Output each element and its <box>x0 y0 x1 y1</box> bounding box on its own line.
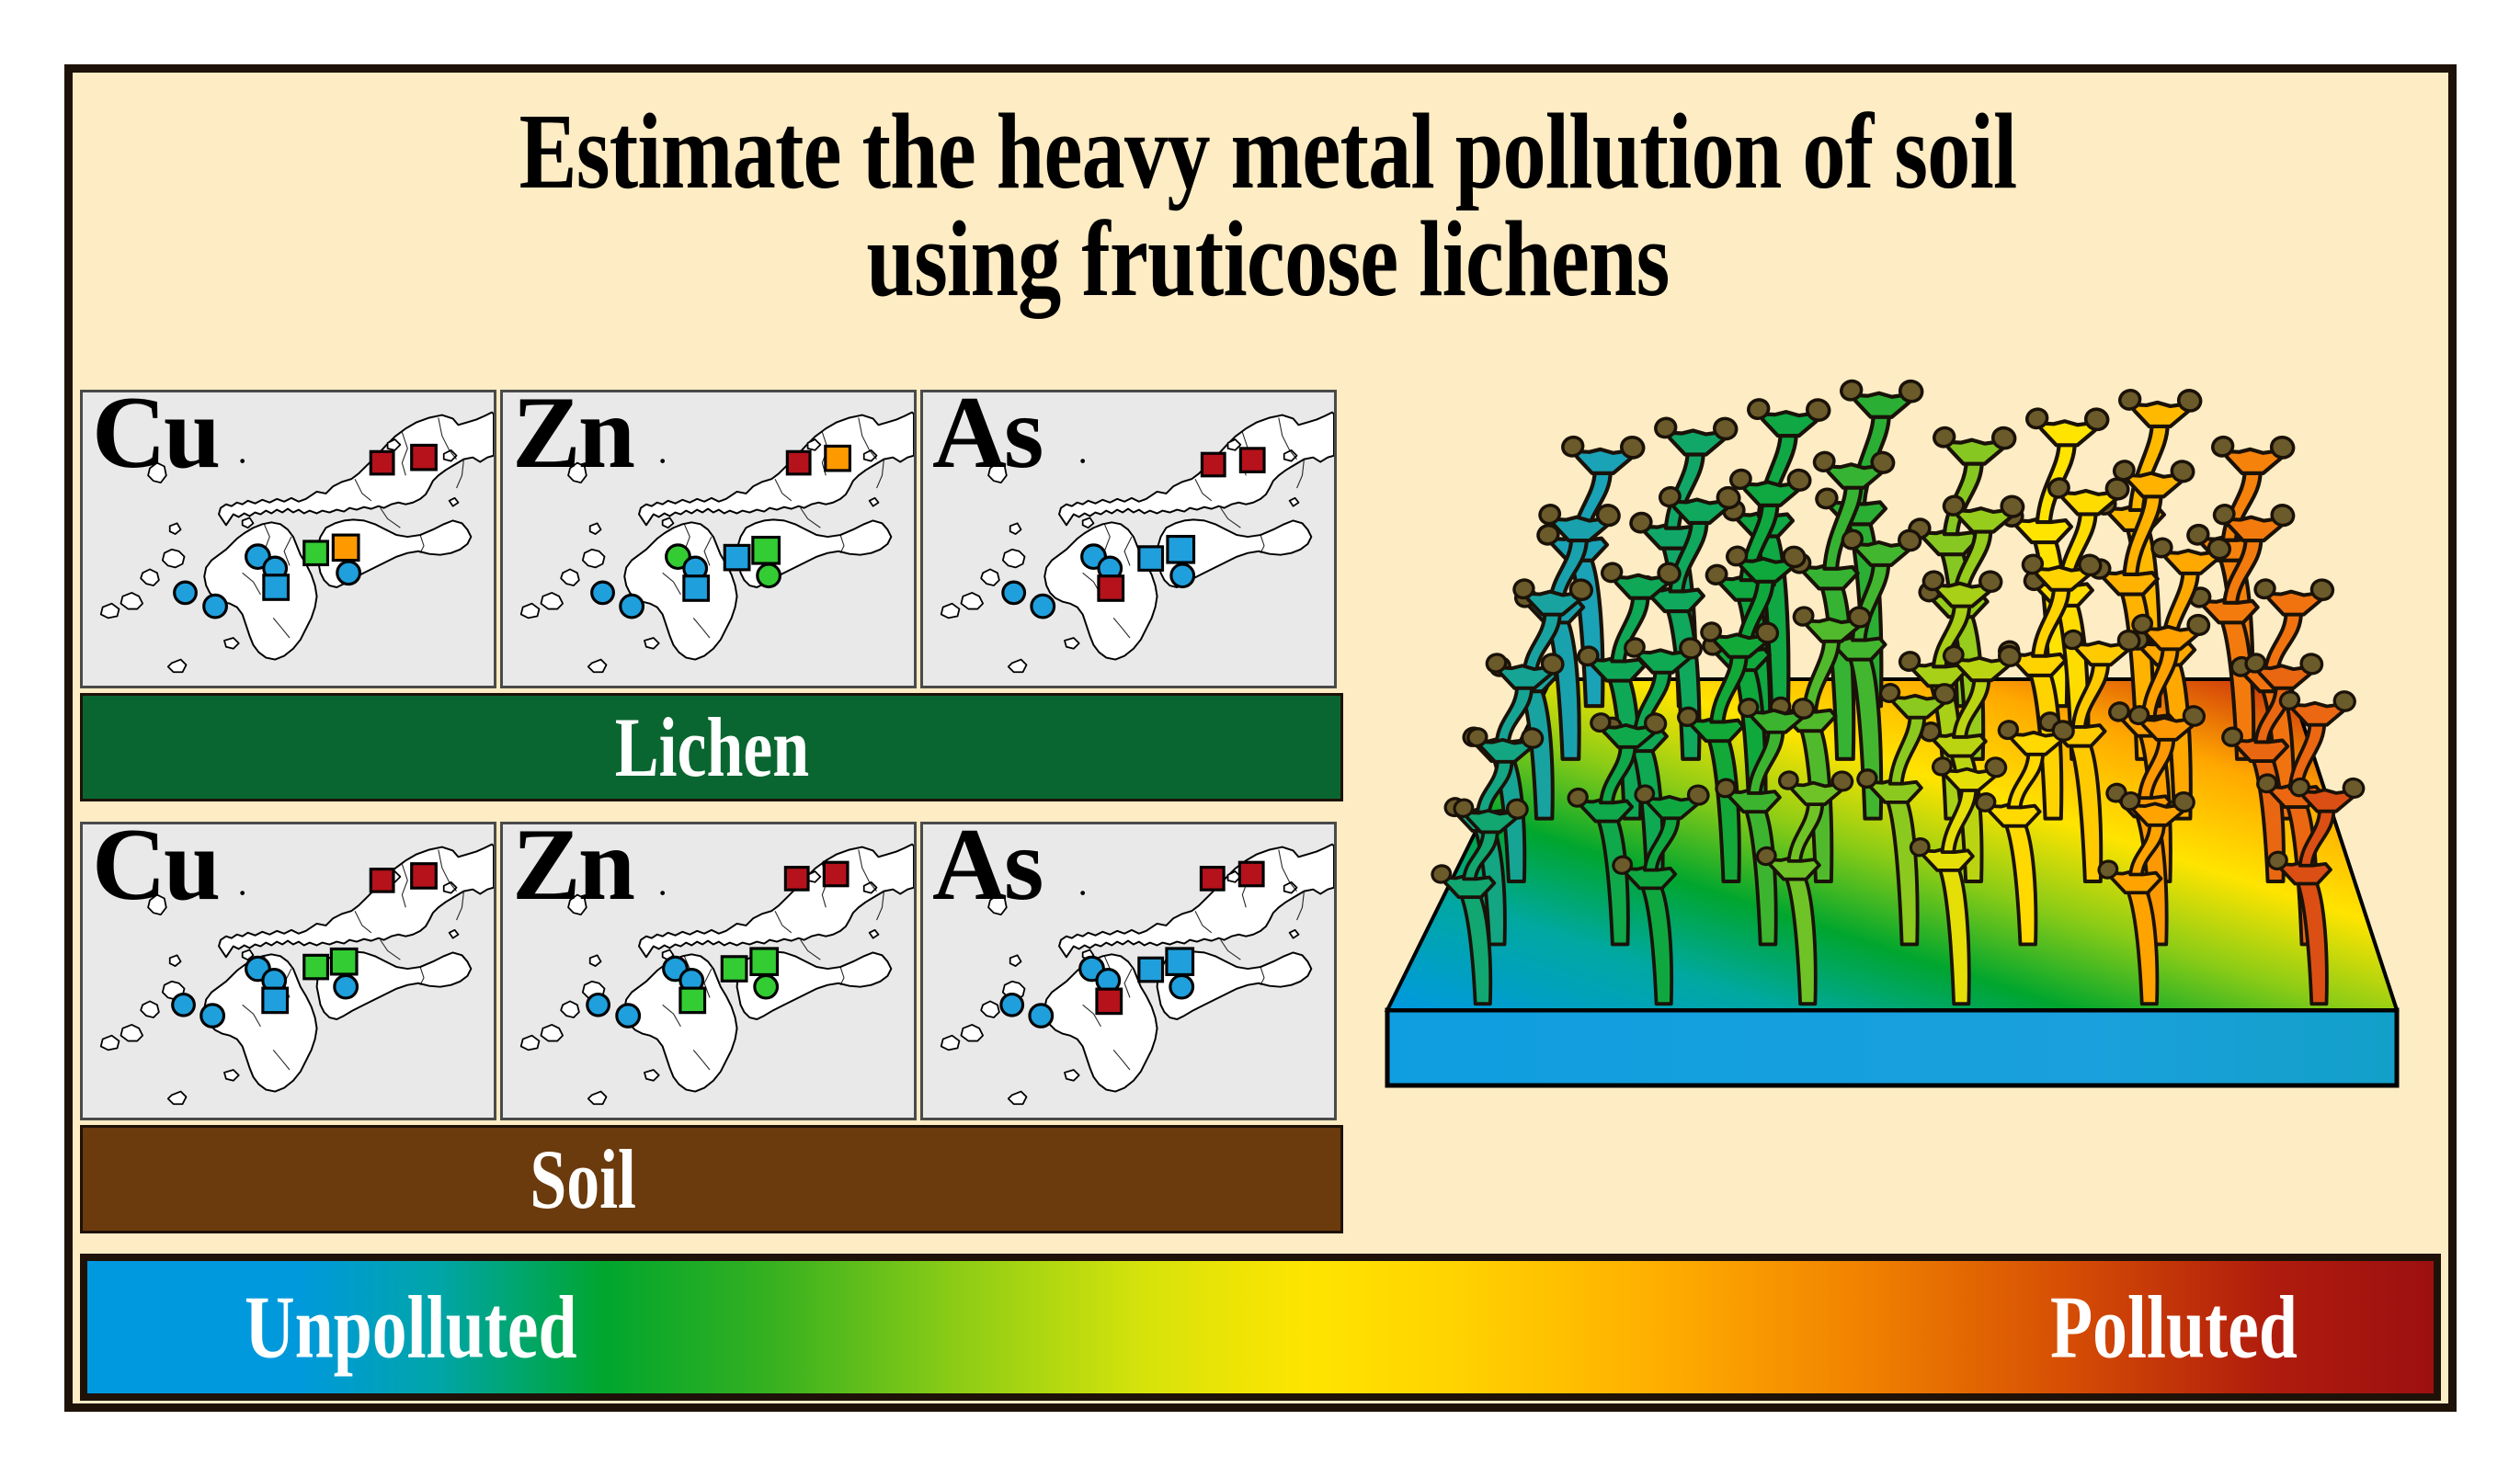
map-panel-lichen-zn[interactable]: Zn <box>500 390 917 688</box>
graphical-abstract: Estimate the heavy metal pollution of so… <box>0 0 2520 1477</box>
map-row-lichen: Cu Zn As <box>80 390 1349 688</box>
lichen-slab-illustration <box>1360 376 2445 1240</box>
banner-soil-label: Soil <box>530 1137 636 1221</box>
map-block: Cu Zn As Lichen <box>80 390 1349 1313</box>
map-panel-soil-zn[interactable]: Zn <box>500 822 917 1120</box>
element-label: As <box>932 822 1041 916</box>
lichen-slab-svg <box>1360 376 2445 1240</box>
colorbar-right-label: Polluted <box>2015 1283 2332 1372</box>
map-panel-lichen-cu[interactable]: Cu <box>80 390 496 688</box>
map-panel-soil-as[interactable]: As <box>920 822 1337 1120</box>
element-label: Zn <box>512 822 633 916</box>
banner-lichen: Lichen <box>80 693 1343 801</box>
banner-soil: Soil <box>80 1125 1343 1233</box>
element-label: As <box>932 390 1041 484</box>
element-label: Cu <box>92 390 218 484</box>
pollution-colorbar: Unpolluted Polluted <box>80 1254 2441 1401</box>
banner-lichen-label: Lichen <box>614 705 808 790</box>
slab-front-face <box>1387 1010 2397 1085</box>
element-label: Cu <box>92 822 218 916</box>
element-label: Zn <box>512 390 633 484</box>
colorbar-left-label: Unpolluted <box>198 1283 624 1372</box>
map-panel-lichen-as[interactable]: As <box>920 390 1337 688</box>
page-title: Estimate the heavy metal pollution of so… <box>400 98 2136 313</box>
title-line-1: Estimate the heavy metal pollution of so… <box>519 91 2017 211</box>
map-panel-soil-cu[interactable]: Cu <box>80 822 496 1120</box>
title-line-2: using fruticose lichens <box>400 206 2136 313</box>
lichen-upper-stalk <box>2265 613 2301 672</box>
map-row-soil: Cu Zn As <box>80 822 1349 1120</box>
poster-frame: Estimate the heavy metal pollution of so… <box>64 64 2457 1412</box>
